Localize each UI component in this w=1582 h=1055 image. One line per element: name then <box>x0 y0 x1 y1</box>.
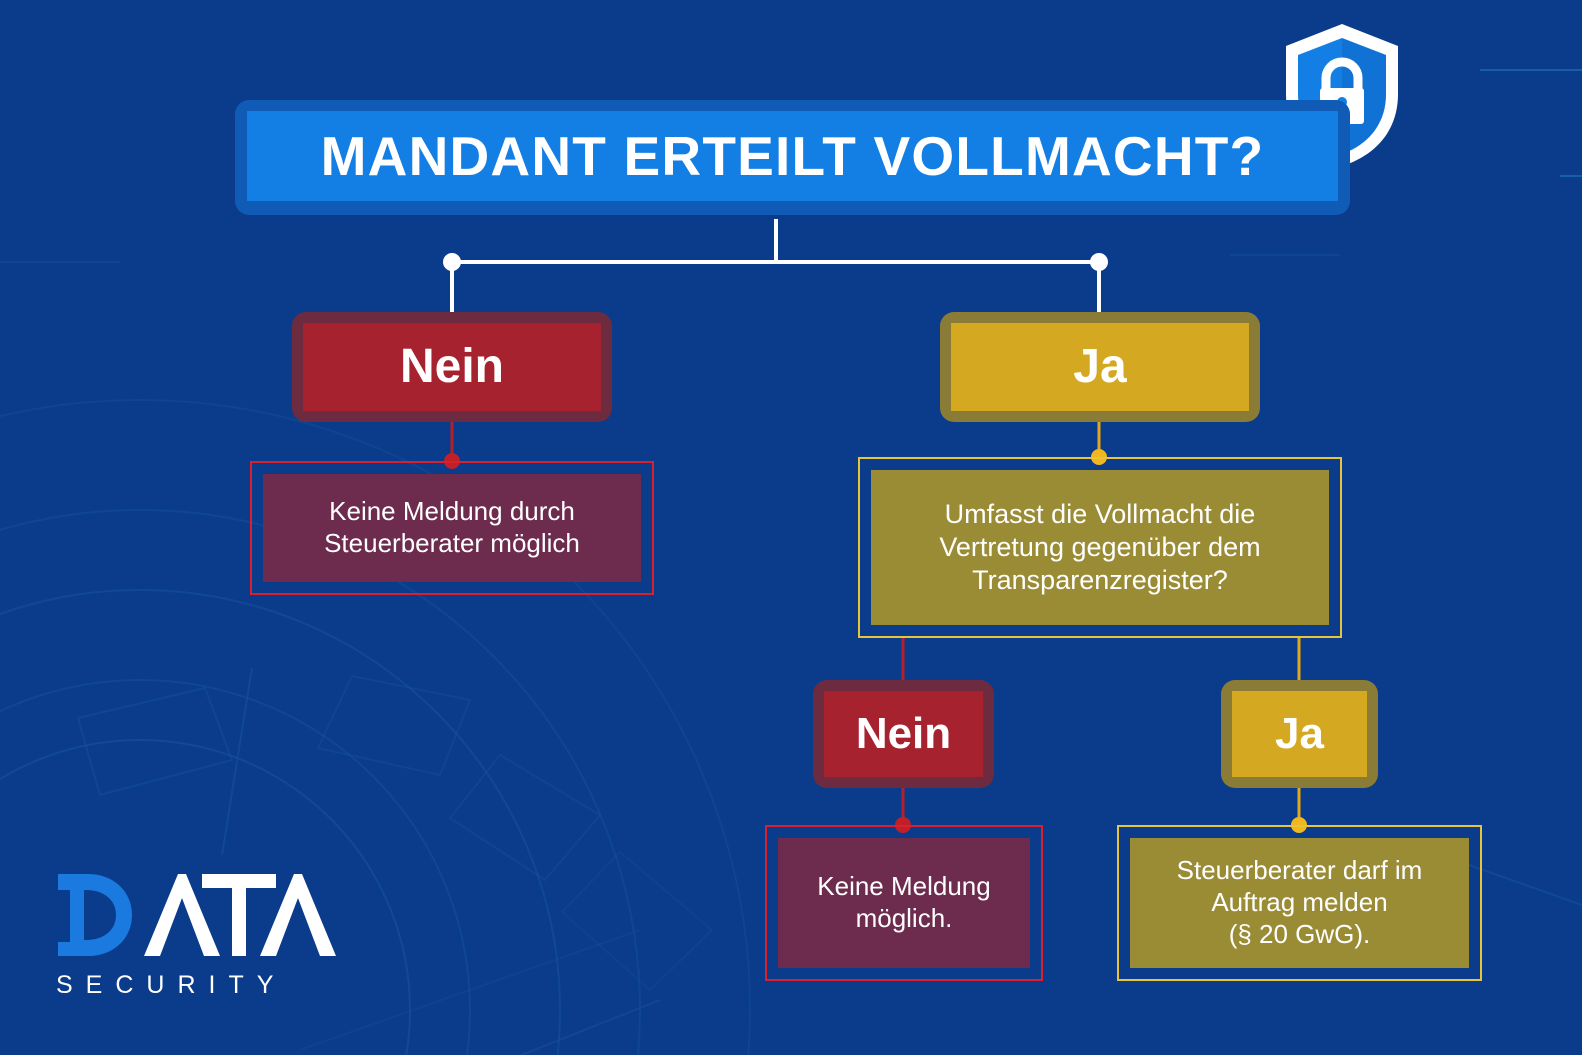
result-text-keine-meldung-moeglich: Keine Meldungmöglich. <box>807 871 1000 934</box>
decision-box-nein-level2-inner: Nein <box>824 691 983 777</box>
page-title: MANDANT ERTEILT VOLLMACHT? <box>321 129 1265 184</box>
decision-label-nein-level2: Nein <box>856 712 951 756</box>
decision-box-nein-level2[interactable]: Nein <box>813 680 994 788</box>
result-box-keine-meldung-steuerberater[interactable]: Keine Meldung durchSteuerberater möglich <box>250 461 654 595</box>
result-box-keine-meldung-moeglich-fill: Keine Meldungmöglich. <box>778 838 1030 968</box>
decision-label-nein-level1: Nein <box>400 343 504 391</box>
result-box-keine-meldung-moeglich[interactable]: Keine Meldungmöglich. <box>765 825 1043 981</box>
question-text-umfasst-vollmacht: Umfasst die Vollmacht dieVertretung gege… <box>929 498 1270 597</box>
result-text-steuerberater-darf-melden: Steuerberater darf imAuftrag melden(§ 20… <box>1167 855 1433 950</box>
result-text-keine-meldung-steuerberater: Keine Meldung durchSteuerberater möglich <box>314 496 590 559</box>
infographic-canvas: MANDANT ERTEILT VOLLMACHT? Ne <box>0 0 1582 1055</box>
decision-box-ja-level2[interactable]: Ja <box>1221 680 1378 788</box>
decision-box-ja-level2-inner: Ja <box>1232 691 1367 777</box>
decision-box-nein-level1[interactable]: Nein <box>292 312 612 422</box>
brand-logo: SECURITY <box>52 868 342 998</box>
decision-label-ja-level1: Ja <box>1073 343 1126 391</box>
logo-wordmark-data <box>52 868 342 958</box>
logo-subtitle: SECURITY <box>52 971 342 1000</box>
result-box-steuerberater-darf-melden[interactable]: Steuerberater darf imAuftrag melden(§ 20… <box>1117 825 1482 981</box>
page-title-inner: MANDANT ERTEILT VOLLMACHT? <box>247 111 1338 201</box>
result-box-steuerberater-darf-melden-fill: Steuerberater darf imAuftrag melden(§ 20… <box>1130 838 1469 968</box>
page-title-banner: MANDANT ERTEILT VOLLMACHT? <box>235 100 1350 215</box>
question-box-umfasst-vollmacht[interactable]: Umfasst die Vollmacht dieVertretung gege… <box>858 457 1342 638</box>
decision-label-ja-level2: Ja <box>1275 712 1324 756</box>
decision-box-nein-level1-inner: Nein <box>303 323 601 411</box>
decision-box-ja-level1-inner: Ja <box>951 323 1249 411</box>
question-box-umfasst-vollmacht-fill: Umfasst die Vollmacht dieVertretung gege… <box>871 470 1329 625</box>
decision-box-ja-level1[interactable]: Ja <box>940 312 1260 422</box>
result-box-keine-meldung-steuerberater-fill: Keine Meldung durchSteuerberater möglich <box>263 474 641 582</box>
